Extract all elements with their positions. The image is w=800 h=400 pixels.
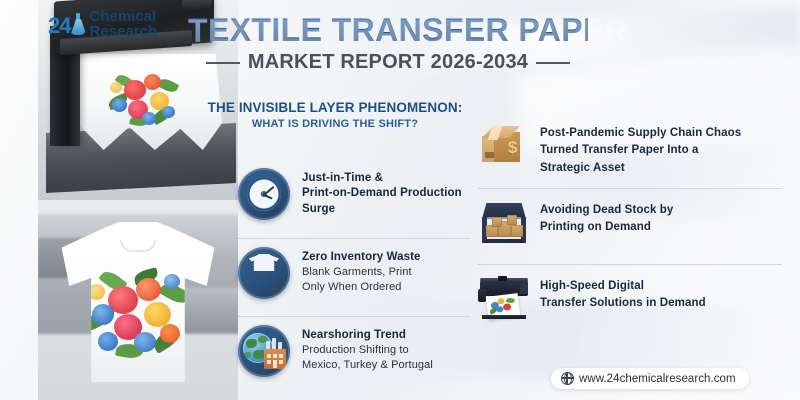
floral-print-shirt	[86, 270, 190, 362]
section-heading-main: THE INVISIBLE LAYER PHENOMENON:	[196, 100, 474, 115]
infographic-poster: 24 Chemical Research TEXTILE TRANSFER PA…	[0, 0, 800, 400]
title-block: TEXTILE TRANSFER PAPER MARKET REPORT 202…	[188, 12, 588, 74]
tshirt-collar	[120, 240, 156, 252]
left-feature-list: Just-in-Time & Print-on-Demand Productio…	[238, 160, 470, 394]
folded-garments-icon	[238, 247, 290, 299]
feature-title: Nearshoring Trend	[302, 328, 433, 343]
website-url-badge[interactable]: www.24chemicalresearch.com	[551, 368, 749, 389]
website-url: www.24chemicalresearch.com	[579, 373, 736, 385]
page-subtitle: MARKET REPORT 2026-2034	[248, 51, 528, 74]
feature-line-3: Strategic Asset	[540, 160, 741, 177]
feature-title: Just-in-Time &	[302, 171, 462, 186]
rule-left	[206, 62, 240, 64]
feature-sub-line2: Production Shifting to	[302, 343, 433, 358]
brand-logo[interactable]: 24 Chemical Research	[48, 9, 157, 40]
globe-icon	[561, 372, 574, 385]
logo-number: 24	[48, 15, 70, 37]
list-item[interactable]: Nearshoring Trend Production Shifting to…	[238, 316, 470, 394]
logo-line-2: Research	[89, 24, 157, 39]
clock-icon	[238, 168, 290, 220]
list-item[interactable]: Avoiding Dead Stock by Printing on Deman…	[478, 188, 782, 264]
feature-line-1: Post-Pandemic Supply Chain Chaos	[540, 125, 741, 142]
rule-right	[536, 62, 570, 64]
globe-factory-icon	[238, 325, 290, 377]
section-heading: THE INVISIBLE LAYER PHENOMENON: WHAT IS …	[196, 100, 474, 130]
cardboard-box-dollar-icon: $	[478, 122, 530, 170]
feature-title-line3: Surge	[302, 202, 462, 217]
list-item[interactable]: Zero Inventory Waste Blank Garments, Pri…	[238, 238, 470, 316]
feature-line-1: High-Speed Digital	[540, 278, 706, 295]
press-knob	[182, 0, 212, 11]
feature-title-line2: Print-on-Demand Production	[302, 186, 462, 201]
page-title: TEXTILE TRANSFER PAPER	[188, 12, 588, 49]
feature-line-1: Avoiding Dead Stock by	[540, 202, 673, 219]
warehouse-boxes-icon	[478, 199, 530, 247]
feature-title: Zero Inventory Waste	[302, 250, 421, 265]
subtitle-row: MARKET REPORT 2026-2034	[188, 51, 588, 74]
list-item[interactable]: High-Speed Digital Transfer Solutions in…	[478, 264, 782, 340]
feature-sub-line3: Only When Ordered	[302, 280, 421, 295]
list-item[interactable]: Just-in-Time & Print-on-Demand Productio…	[238, 160, 470, 238]
section-heading-sub: WHAT IS DRIVING THE SHIFT?	[196, 118, 474, 130]
right-feature-list: $ Post-Pandemic Supply Chain Chaos Turne…	[478, 112, 782, 340]
feature-sub-line2: Blank Garments, Print	[302, 265, 421, 280]
feature-line-2: Transfer Solutions in Demand	[540, 295, 706, 312]
feature-line-2: Turned Transfer Paper Into a	[540, 142, 741, 159]
tshirt-photo	[38, 200, 238, 400]
flask-icon	[70, 13, 86, 35]
feature-sub-line3: Mexico, Turkey & Portugal	[302, 358, 433, 373]
logo-line-1: Chemical	[89, 9, 157, 24]
list-item[interactable]: $ Post-Pandemic Supply Chain Chaos Turne…	[478, 112, 782, 188]
wide-format-printer-icon	[478, 275, 530, 323]
floral-print-top	[106, 70, 180, 132]
feature-line-2: Printing on Demand	[540, 219, 673, 236]
